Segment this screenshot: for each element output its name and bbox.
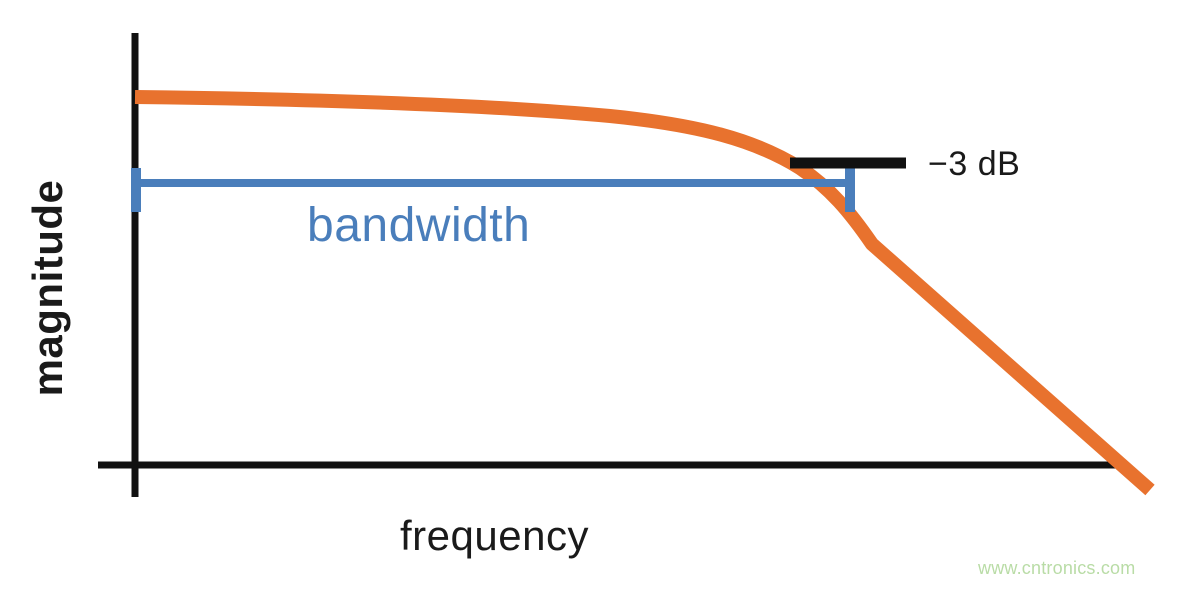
- figure-canvas: magnitude frequency bandwidth −3 dB www.…: [0, 0, 1186, 594]
- y-axis-label: magnitude: [24, 178, 72, 398]
- frequency-response-plot: [0, 0, 1186, 594]
- watermark: www.cntronics.com: [978, 558, 1135, 579]
- cutoff-db-label: −3 dB: [928, 145, 1020, 184]
- x-axis-label: frequency: [400, 512, 589, 560]
- bandwidth-label: bandwidth: [307, 198, 530, 253]
